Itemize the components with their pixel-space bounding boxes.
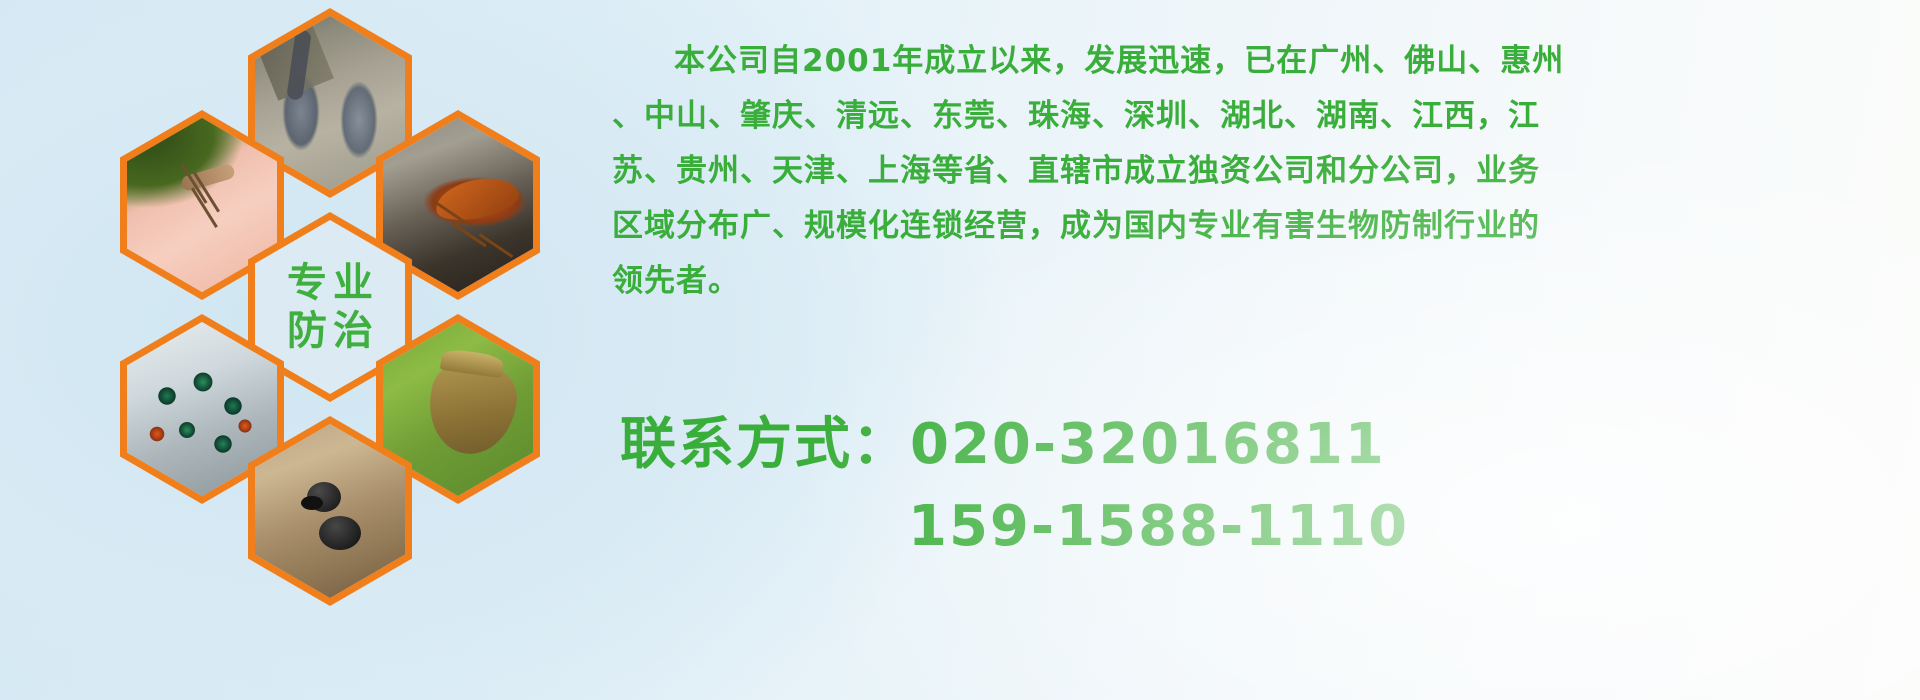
badge-line-2: 防治 [281,310,379,352]
description-line-4: 区域分布广、规模化连锁经营，成为国内专业有害生物防制行业的 [612,199,1912,254]
description-line-3: 苏、贵州、天津、上海等省、直辖市成立独资公司和分公司，业务 [612,144,1912,199]
contact-phone-primary[interactable]: 联系方式：020-32016811 [620,404,1920,486]
description-line-1: 本公司自2001年成立以来，发展迅速，已在广州、佛山、惠州 [612,34,1912,89]
promo-banner: 专业 防治 本公司自2001年成立以来，发展迅速，已在广州、佛山、惠州 、中山、… [0,0,1920,700]
description-line-5: 领先者。 [612,254,1912,309]
ant-photo [255,424,405,598]
honeycomb-cluster: 专业 防治 [80,0,580,560]
contact-phone-secondary[interactable]: 159-1588-1110 [620,486,1920,568]
ant-icon [255,424,405,598]
company-description: 本公司自2001年成立以来，发展迅速，已在广州、佛山、惠州 、中山、肇庆、清远、… [612,34,1912,309]
badge-line-1: 专业 [281,262,379,304]
description-line-2: 、中山、肇庆、清远、东莞、珠海、深圳、湖北、湖南、江西，江 [612,89,1912,144]
contact-block: 联系方式：020-32016811 159-1588-1110 [620,404,1920,568]
